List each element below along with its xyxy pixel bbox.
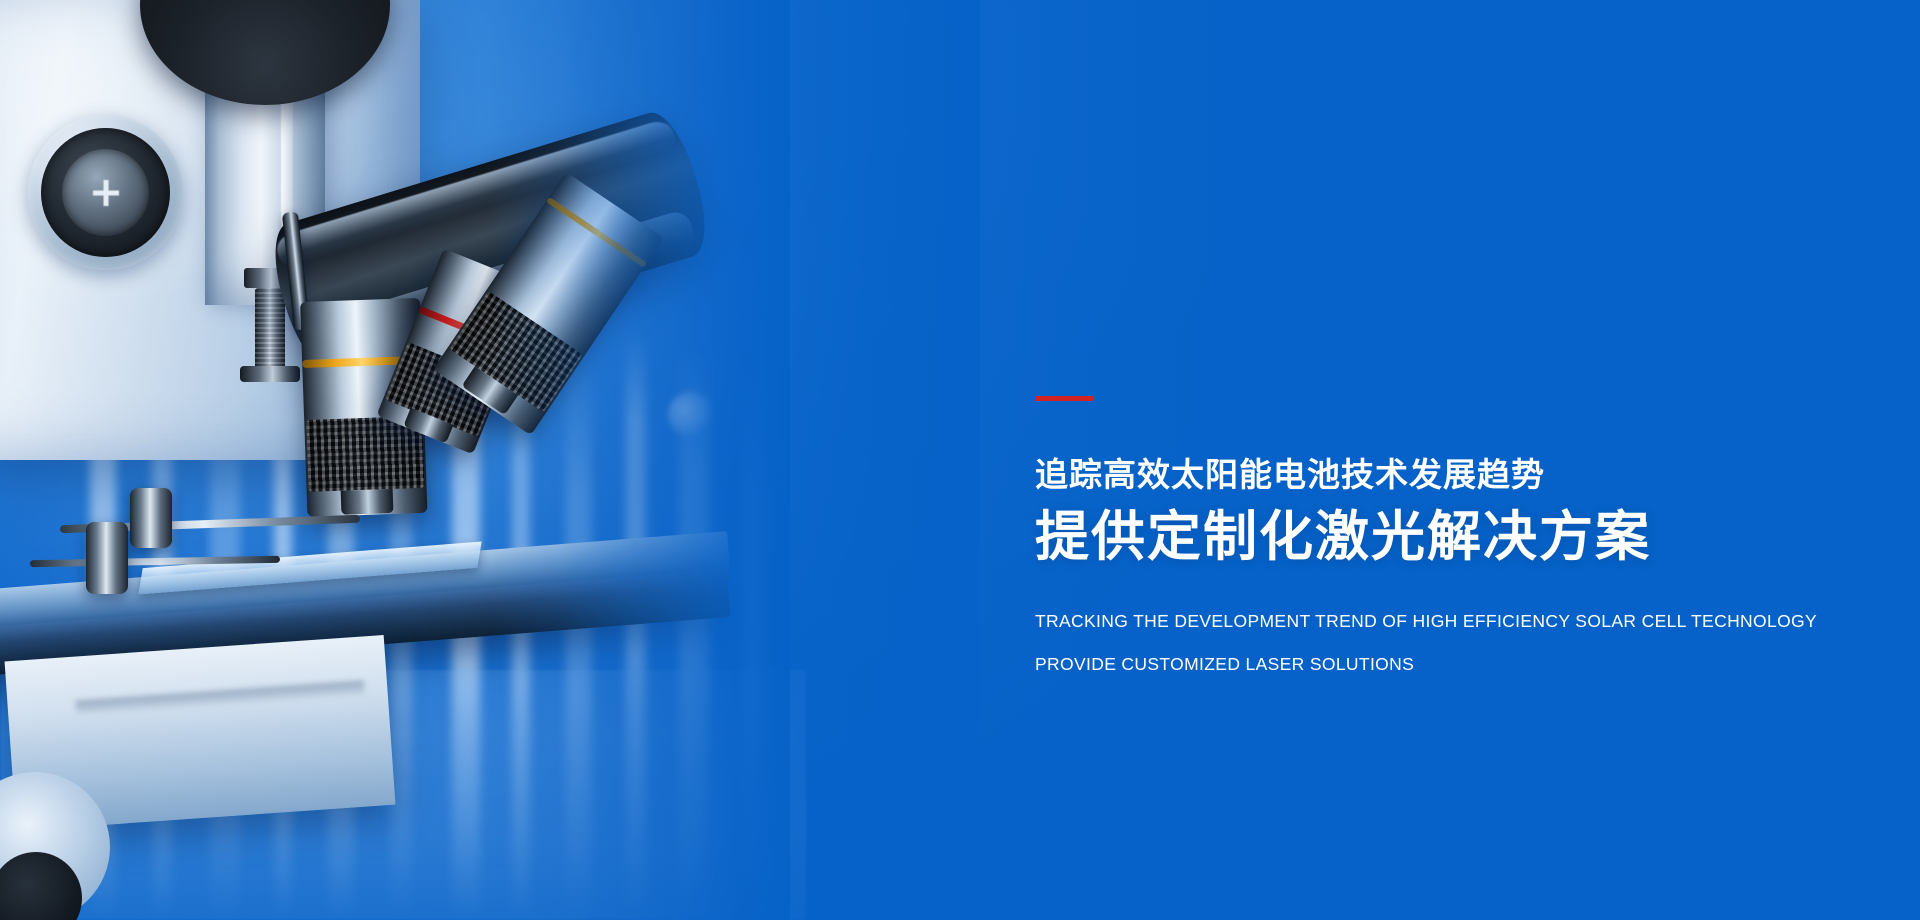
stage-post-1 bbox=[130, 488, 172, 548]
hero-subhead: 追踪高效太阳能电池技术发展趋势 bbox=[1035, 457, 1855, 493]
adjust-screw-foot bbox=[240, 366, 300, 382]
adjust-screw-stem bbox=[255, 288, 285, 374]
microscope-photo bbox=[0, 0, 780, 920]
hero-english-line-2: PROVIDE CUSTOMIZED LASER SOLUTIONS bbox=[1035, 656, 1855, 674]
hero-banner: 追踪高效太阳能电池技术发展趋势 提供定制化激光解决方案 TRACKING THE… bbox=[0, 0, 1920, 920]
hero-headline: 提供定制化激光解决方案 bbox=[1035, 507, 1855, 569]
red-accent-rule bbox=[1035, 396, 1093, 401]
hero-english-line-1: TRACKING THE DEVELOPMENT TREND OF HIGH E… bbox=[1035, 613, 1855, 631]
hero-copy-block: 追踪高效太阳能电池技术发展趋势 提供定制化激光解决方案 TRACKING THE… bbox=[1035, 396, 1855, 674]
focus-knob bbox=[28, 115, 183, 270]
stage-post-2 bbox=[86, 522, 128, 594]
